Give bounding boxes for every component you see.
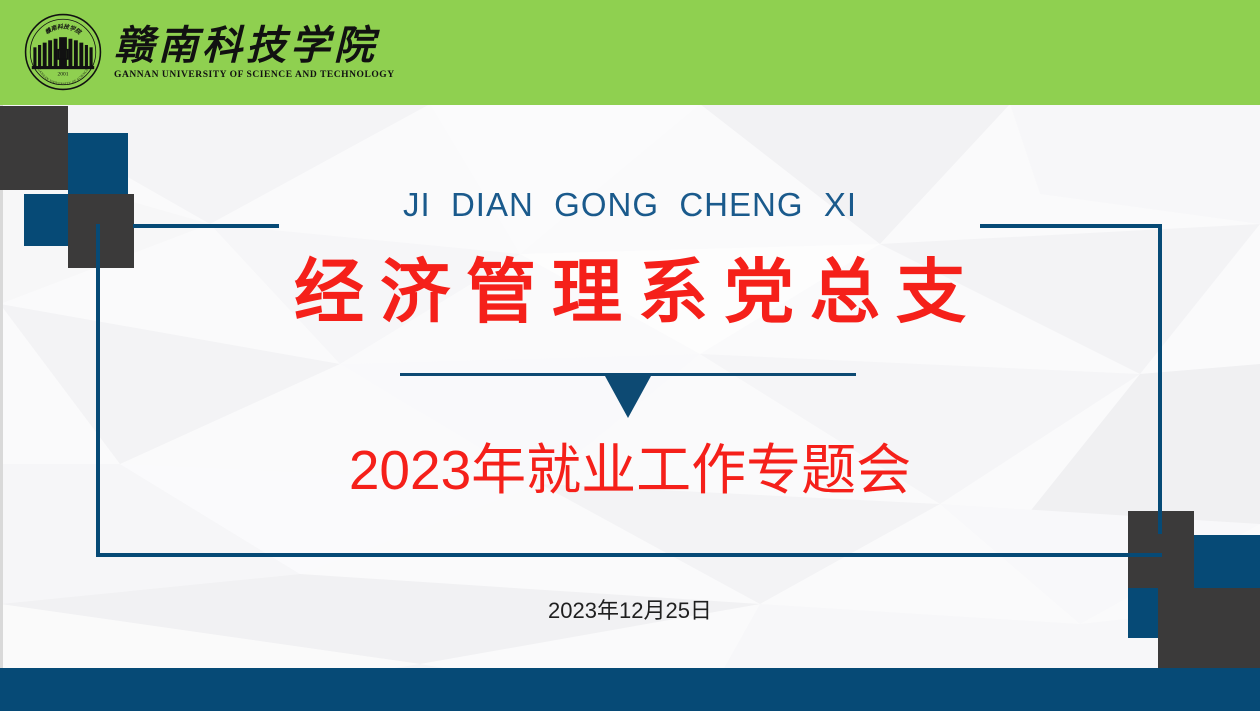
page-subtitle: 2023年就业工作专题会 [0,425,1260,505]
frame-line-bottom [96,553,1162,557]
university-seal-icon: 2001 赣南科技学院 GANNAN UNIVERSITY OF SCIENCE [24,13,102,91]
university-name-en: GANNAN UNIVERSITY OF SCIENCE AND TECHNOL… [114,70,395,80]
pinyin-subtitle: JI DIAN GONG CHENG XI [0,186,1260,224]
down-triangle-icon [605,376,651,418]
svg-text:2001: 2001 [58,71,69,77]
university-logo: 2001 赣南科技学院 GANNAN UNIVERSITY OF SCIENCE… [24,13,395,91]
presentation-slide: 2001 赣南科技学院 GANNAN UNIVERSITY OF SCIENCE… [0,0,1260,711]
footer-band [0,668,1260,711]
slide-date: 2023年12月25日 [0,593,1260,625]
header-band: 2001 赣南科技学院 GANNAN UNIVERSITY OF SCIENCE… [0,0,1260,105]
page-title: 经济管理系党总支 [0,253,1260,331]
decor-square-blue-br-1 [1194,535,1260,588]
university-name-cn: 赣南科技学院 [114,25,395,67]
svg-text:赣南科技学院: 赣南科技学院 [43,22,83,36]
decor-square-dark-tl-1 [0,106,68,190]
frame-line-top-left [133,224,279,228]
frame-line-top-right [980,224,1162,228]
